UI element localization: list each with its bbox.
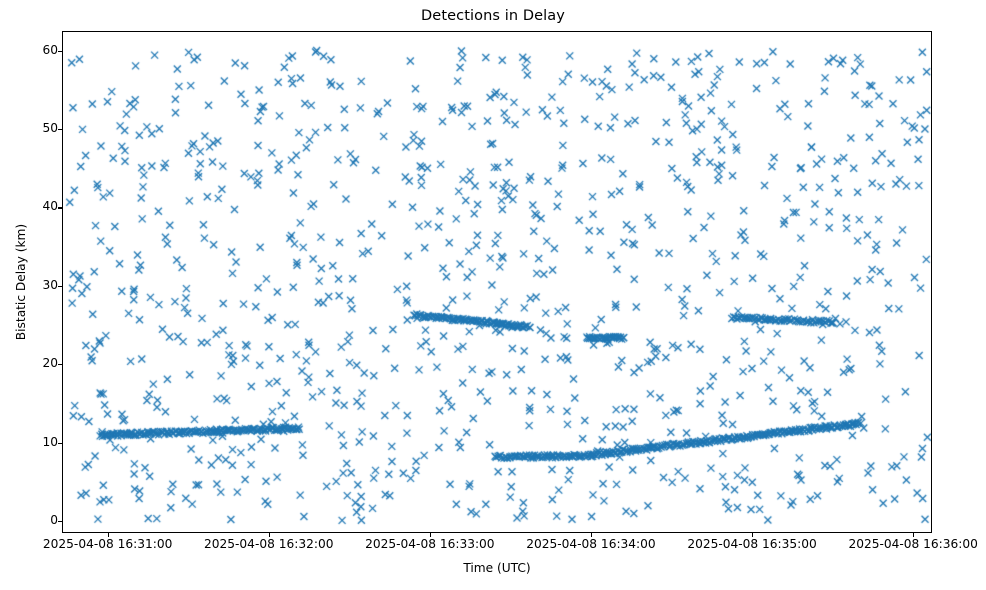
- x-axis-tick-mark: [430, 533, 431, 537]
- x-axis-tick-mark: [108, 533, 109, 537]
- matplotlib-figure: Detections in Delay 0102030405060 2025-0…: [0, 0, 986, 590]
- x-axis-tick-group: 2025-04-08 16:31:002025-04-08 16:32:0020…: [0, 0, 986, 590]
- y-axis-label: Bistatic Delay (km): [14, 31, 34, 533]
- x-axis-tick-label: 2025-04-08 16:36:00: [808, 538, 986, 551]
- x-axis-tick-mark: [269, 533, 270, 537]
- x-axis-label: Time (UTC): [62, 561, 932, 575]
- x-axis-tick-mark: [752, 533, 753, 537]
- x-axis-tick-mark: [591, 533, 592, 537]
- x-axis-tick-mark: [913, 533, 914, 537]
